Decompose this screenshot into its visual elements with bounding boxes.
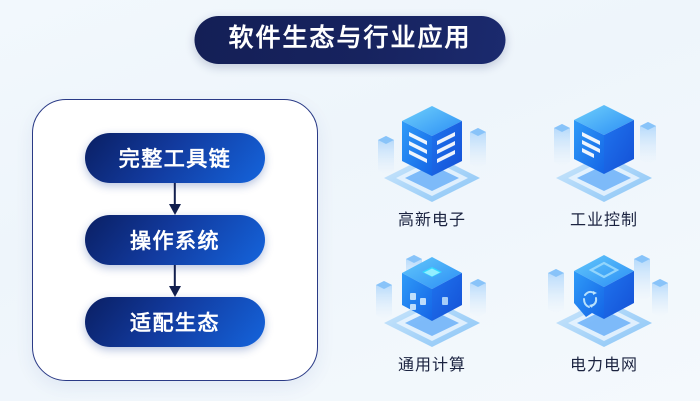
industry-label: 高新电子	[398, 206, 466, 230]
flow-step-adaptation-ecosystem[interactable]: 适配生态	[85, 297, 265, 347]
isometric-compute-cube-icon	[362, 243, 502, 347]
flow-arrow-down-icon	[168, 183, 182, 215]
isometric-power-grid-cube-icon	[534, 243, 674, 347]
flow-step-toolchain[interactable]: 完整工具链	[85, 133, 265, 183]
arrow-head	[169, 286, 181, 297]
isometric-control-cabinet-icon	[534, 98, 674, 202]
industry-item-industrial-control[interactable]: 工业控制	[518, 98, 690, 243]
industry-label: 工业控制	[570, 206, 638, 230]
industry-label: 通用计算	[398, 351, 466, 375]
industry-label: 电力电网	[570, 351, 638, 375]
arrow-head	[169, 204, 181, 215]
software-stack-panel: 完整工具链 操作系统 适配生态	[32, 99, 318, 381]
industry-item-general-computing[interactable]: 通用计算	[346, 243, 518, 388]
flow-step-operating-system[interactable]: 操作系统	[85, 215, 265, 265]
industry-item-power-grid[interactable]: 电力电网	[518, 243, 690, 388]
flow-list: 完整工具链 操作系统 适配生态	[33, 100, 317, 380]
industry-item-high-tech-electronics[interactable]: 高新电子	[346, 98, 518, 243]
isometric-server-tower-icon	[362, 98, 502, 202]
industry-application-grid: 高新电子	[346, 98, 690, 388]
flow-arrow-down-icon	[168, 265, 182, 297]
page-title: 软件生态与行业应用	[194, 16, 505, 64]
slide-canvas: 软件生态与行业应用 完整工具链 操作系统 适配生态	[0, 0, 700, 401]
